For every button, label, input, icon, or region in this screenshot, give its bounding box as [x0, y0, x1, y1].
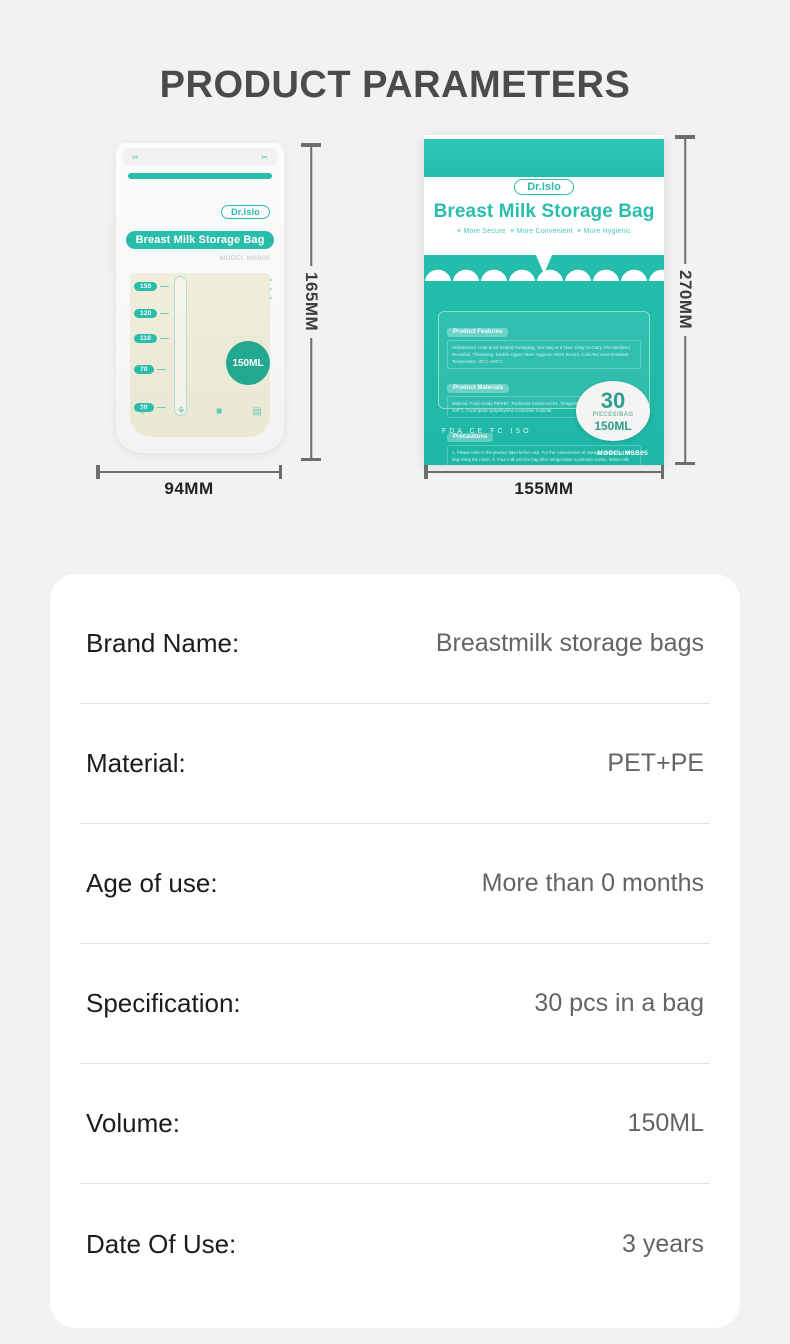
- package-product-title: Breast Milk Storage Bag: [424, 201, 664, 223]
- spec-label: Volume:: [86, 1108, 180, 1139]
- scale-dash: [160, 286, 169, 287]
- table-row: Volume: 150ML: [80, 1064, 710, 1184]
- spec-label: Material:: [86, 748, 186, 779]
- dimension-cap-bottom: [675, 462, 695, 466]
- package-brand-label: Dr.Islo: [514, 179, 574, 195]
- spec-value: More than 0 months: [482, 869, 704, 898]
- package-height-dimension: 270MM: [674, 135, 696, 465]
- package-width-label: 155MM: [424, 479, 664, 499]
- info-heading: Product Features: [447, 328, 508, 337]
- scale-mark: 110: [134, 334, 169, 343]
- quantity-volume: 150ML: [594, 419, 631, 433]
- dimension-cap-top: [675, 135, 695, 139]
- page-title: PRODUCT PARAMETERS: [0, 0, 790, 107]
- single-bag-figure: ✂ ✂ Dr.Islo Breast Milk Storage Bag MODE…: [108, 143, 288, 461]
- dimension-cap-left: [424, 465, 428, 479]
- package-tagline: More Hygienic: [584, 228, 631, 235]
- scale-mark: 120: [134, 309, 169, 318]
- bag-gauge-tube: [174, 276, 187, 416]
- dimension-cap-bottom: [301, 458, 321, 462]
- table-row: Specification: 30 pcs in a bag: [80, 944, 710, 1064]
- package-width-dimension: 155MM: [424, 465, 664, 505]
- dimension-line: [424, 471, 664, 473]
- scale-mark: 150: [134, 282, 169, 291]
- spec-label: Age of use:: [86, 868, 218, 899]
- package-model-label: MODEL:MSB05: [597, 450, 648, 457]
- package-height-label: 270MM: [675, 264, 695, 335]
- spec-label: Specification:: [86, 988, 241, 1019]
- scale-dash: [160, 338, 169, 339]
- bag-care-icons: ❄ ⚘ ■ ▤: [138, 406, 262, 417]
- no-microwave-icon: ⚘: [177, 406, 186, 417]
- spec-value: 30 pcs in a bag: [534, 989, 704, 1018]
- breast-milk-storage-bag-image: ✂ ✂ Dr.Islo Breast Milk Storage Bag MODE…: [116, 143, 284, 453]
- table-row: Brand Name: Breastmilk storage bags: [80, 584, 710, 704]
- scale-dash: [157, 369, 166, 370]
- spec-value: 150ML: [628, 1109, 704, 1138]
- bag-width-label: 94MM: [96, 479, 282, 499]
- seal-icon: ▤: [253, 406, 262, 417]
- table-row: Date Of Use: 3 years: [80, 1184, 710, 1304]
- spec-label: Date Of Use:: [86, 1229, 236, 1260]
- package-top-band: [424, 139, 664, 177]
- package-header: Dr.Islo Breast Milk Storage Bag ♥ More S…: [424, 177, 664, 235]
- retail-package-image: Dr.Islo Breast Milk Storage Bag ♥ More S…: [424, 135, 664, 465]
- table-row: Age of use: More than 0 months: [80, 824, 710, 944]
- tear-notch-right-icon: ✂: [261, 153, 268, 162]
- bag-brand-label: Dr.Islo: [221, 205, 270, 219]
- bag-width-dimension: 94MM: [96, 465, 282, 505]
- dimension-line: [96, 471, 282, 473]
- dimension-cap-right: [661, 465, 665, 479]
- info-body: Antibacterial, Leak-proof Sealed Packagi…: [447, 340, 641, 370]
- tear-notch-left-icon: ✂: [132, 153, 139, 162]
- spec-value: Breastmilk storage bags: [436, 629, 704, 658]
- quantity-badge: 30 PIECES/BAG 150ML: [576, 381, 650, 441]
- scale-mark-value: 110: [134, 334, 157, 343]
- bag-top-strip: [122, 148, 278, 166]
- bag-height-dimension: 165MM: [300, 143, 322, 461]
- scale-mark-value: 150: [134, 282, 157, 291]
- dimension-cap-left: [96, 465, 100, 479]
- spec-value: PET+PE: [607, 749, 704, 778]
- spec-value: 3 years: [622, 1230, 704, 1259]
- scale-mark: 70: [134, 365, 166, 374]
- bottle-teat-icon: [533, 248, 555, 274]
- spec-label: Brand Name:: [86, 628, 239, 659]
- info-heading: Product Materials: [447, 384, 509, 393]
- retail-package-figure: Dr.Islo Breast Milk Storage Bag ♥ More S…: [424, 135, 664, 465]
- bag-volume-badge: 150ML: [226, 341, 270, 385]
- bag-model-label: MODEL MSB05: [220, 255, 270, 262]
- certification-marks: FDA CE FC ISO: [442, 428, 532, 435]
- dimension-cap-right: [279, 465, 283, 479]
- package-taglines: ♥ More Secure ♥ More Convenient ♥ More H…: [424, 228, 664, 235]
- scale-mark-value: 70: [134, 365, 154, 374]
- package-tagline: More Secure: [463, 228, 505, 235]
- dimension-cap-top: [301, 143, 321, 147]
- bag-zipper: [128, 173, 272, 179]
- bag-height-label: 165MM: [301, 266, 321, 337]
- snowflake-icon: ❄: [138, 406, 146, 417]
- bag-product-title: Breast Milk Storage Bag: [126, 231, 274, 249]
- specification-card: Brand Name: Breastmilk storage bags Mate…: [50, 574, 740, 1328]
- quantity-unit: PIECES/BAG: [592, 412, 633, 418]
- scale-mark-value: 120: [134, 309, 157, 318]
- package-tagline: More Convenient: [517, 228, 573, 235]
- product-showcase: ✂ ✂ Dr.Islo Breast Milk Storage Bag MODE…: [0, 135, 790, 525]
- quantity-number: 30: [601, 390, 625, 412]
- scale-dash: [160, 313, 169, 314]
- freezer-icon: ■: [216, 406, 222, 417]
- table-row: Material: PET+PE: [80, 704, 710, 824]
